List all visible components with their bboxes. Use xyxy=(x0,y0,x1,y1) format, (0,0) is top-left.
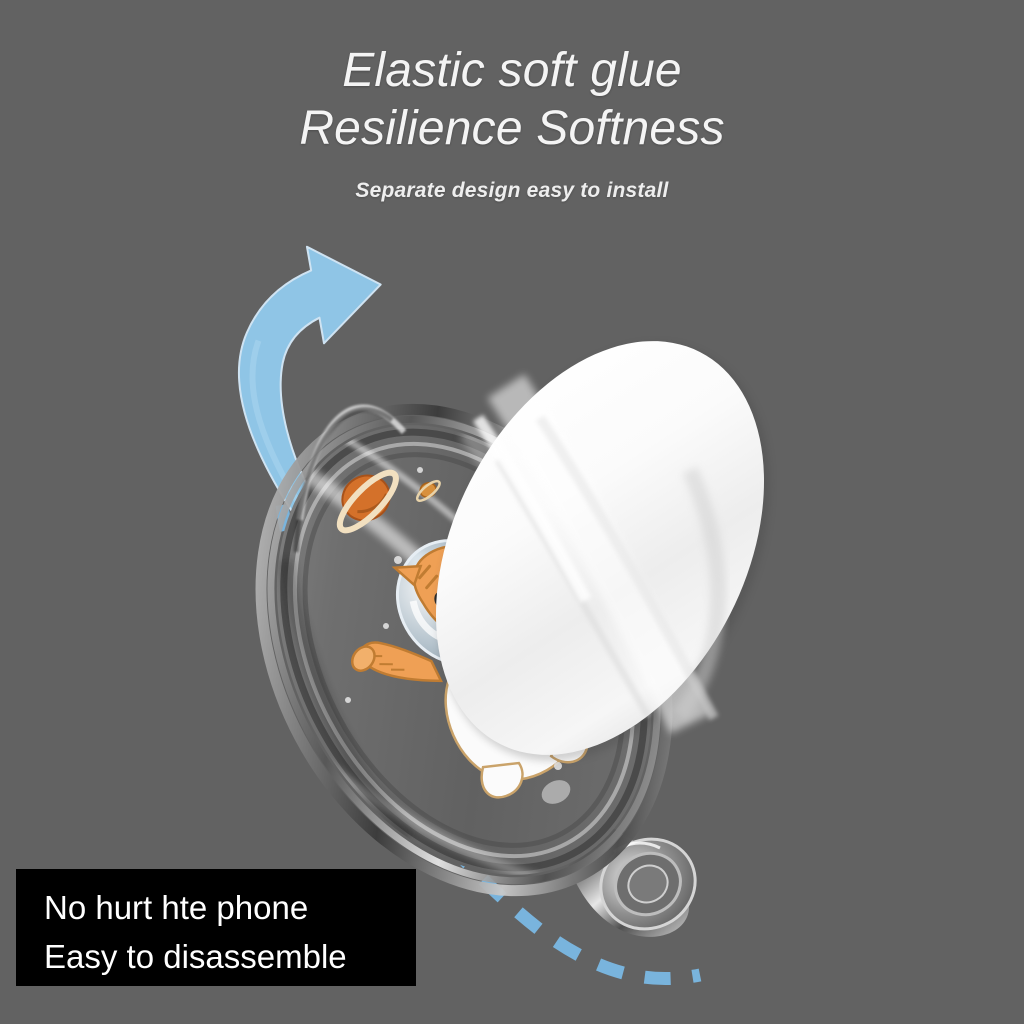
brand-mark xyxy=(538,776,575,809)
headline-block: Elastic soft glue Resilience Softness Se… xyxy=(0,44,1024,203)
white-glossy-cover xyxy=(370,286,837,817)
star-decals xyxy=(345,467,562,770)
keyring-loop xyxy=(559,800,711,945)
planet-decal-bottom xyxy=(561,716,599,746)
planet-decal-small xyxy=(411,477,445,505)
caption-line-2: Easy to disassemble xyxy=(44,932,416,981)
caption-box: No hurt hte phone Easy to disassemble xyxy=(16,869,416,986)
planet-decal-large xyxy=(320,460,414,542)
astronaut-cat-print xyxy=(313,510,600,833)
curved-up-arrow xyxy=(217,235,417,520)
headline-line-2: Resilience Softness xyxy=(0,102,1024,156)
product-banner: Elastic soft glue Resilience Softness Se… xyxy=(0,0,1024,1024)
headline-line-1: Elastic soft glue xyxy=(0,44,1024,98)
caption-line-1: No hurt hte phone xyxy=(44,883,416,932)
subheadline: Separate design easy to install xyxy=(0,178,1024,203)
